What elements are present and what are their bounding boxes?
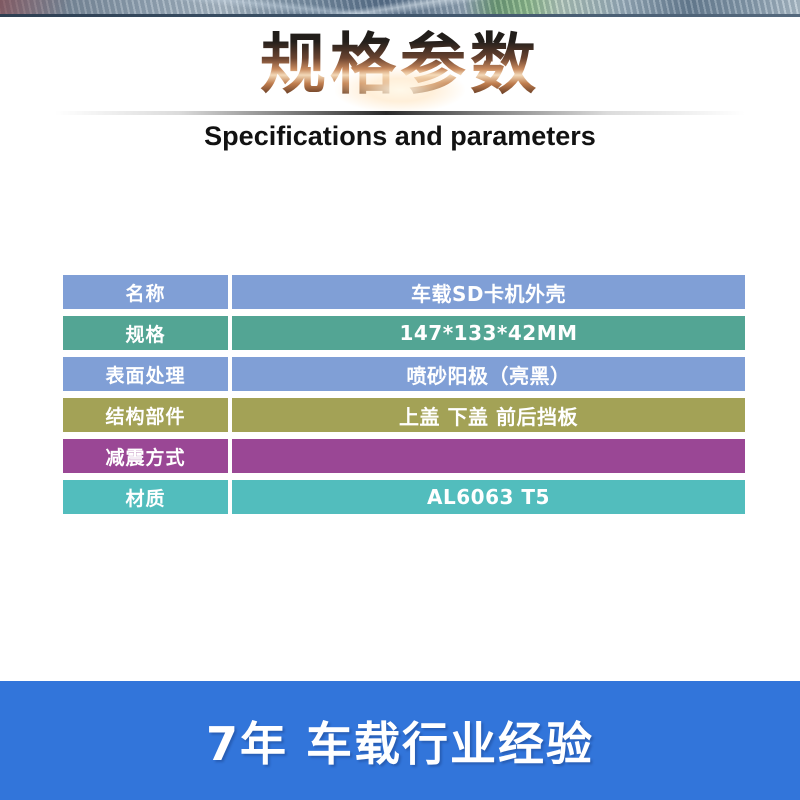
spec-label-cell: 材质 (63, 480, 228, 514)
table-row: 减震方式 (63, 439, 745, 473)
header-divider (55, 111, 745, 115)
header-section: 规格参数 Specifications and parameters (0, 17, 800, 167)
spec-value-cell: 147*133*42MM (232, 316, 745, 350)
spec-value-cell: 车载SD卡机外壳 (232, 275, 745, 309)
spec-value-cell: AL6063 T5 (232, 480, 745, 514)
table-row: 名称 车载SD卡机外壳 (63, 275, 745, 309)
page-subtitle: Specifications and parameters (0, 121, 800, 152)
spec-value-cell (232, 439, 745, 473)
table-row: 材质 AL6063 T5 (63, 480, 745, 514)
top-photo-banner (0, 0, 800, 17)
bottom-experience-banner: 7年 车载行业经验 (0, 681, 800, 800)
page-title: 规格参数 (0, 23, 800, 107)
spec-value-cell: 喷砂阳极（亮黑） (232, 357, 745, 391)
spec-label-cell: 表面处理 (63, 357, 228, 391)
table-row: 表面处理 喷砂阳极（亮黑） (63, 357, 745, 391)
spec-value-cell: 上盖 下盖 前后挡板 (232, 398, 745, 432)
bottom-banner-text: 7年 车载行业经验 (206, 708, 594, 774)
spec-label-cell: 规格 (63, 316, 228, 350)
spec-label-cell: 减震方式 (63, 439, 228, 473)
table-row: 结构部件 上盖 下盖 前后挡板 (63, 398, 745, 432)
spec-label-cell: 名称 (63, 275, 228, 309)
spec-label-cell: 结构部件 (63, 398, 228, 432)
table-row: 规格 147*133*42MM (63, 316, 745, 350)
specifications-table: 名称 车载SD卡机外壳 规格 147*133*42MM 表面处理 喷砂阳极（亮黑… (63, 275, 745, 514)
